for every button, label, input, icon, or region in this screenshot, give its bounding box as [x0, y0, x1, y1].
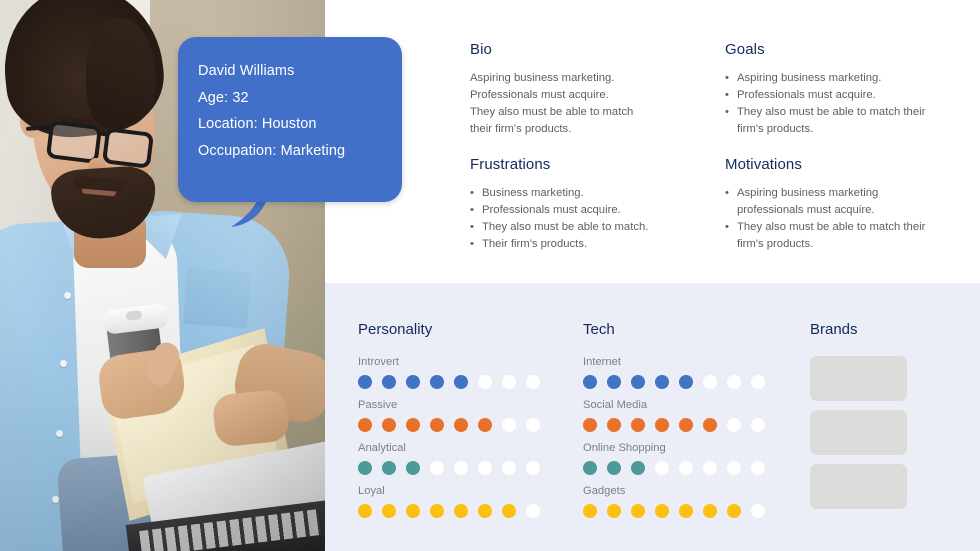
rating-dot-filled[interactable]: [382, 461, 396, 475]
rating-dot-filled[interactable]: [703, 418, 717, 432]
trait-rating[interactable]: [358, 504, 563, 518]
trait-label: Loyal: [358, 485, 563, 497]
rating-dot-filled[interactable]: [679, 375, 693, 389]
trait-rating[interactable]: [583, 375, 798, 389]
rating-dot-empty[interactable]: [655, 461, 669, 475]
trait-label: Analytical: [358, 442, 563, 454]
rating-dot-filled[interactable]: [382, 418, 396, 432]
brand-logo-placeholders: [810, 356, 970, 509]
persona-identity-bubble: David Williams Age: 32 Location: Houston…: [178, 37, 402, 202]
personality-title: Personality: [358, 283, 563, 338]
rating-dot-filled[interactable]: [679, 418, 693, 432]
rating-dot-filled[interactable]: [454, 375, 468, 389]
trait-label: Online Shopping: [583, 442, 798, 454]
frustrations-title: Frustrations: [470, 156, 675, 173]
motivations-list: Aspiring business marketing professional…: [725, 185, 930, 253]
trait-row: Internet: [583, 356, 798, 389]
goals-list: Aspiring business marketing. Professiona…: [725, 70, 930, 138]
rating-dot-empty[interactable]: [727, 461, 741, 475]
bio-title: Bio: [470, 41, 670, 58]
rating-dot-empty[interactable]: [751, 461, 765, 475]
rating-dot-filled[interactable]: [631, 418, 645, 432]
personality-traits: IntrovertPassiveAnalyticalLoyal: [358, 356, 563, 518]
attributes-panel: Personality IntrovertPassiveAnalyticalLo…: [325, 283, 980, 551]
frustrations-section: Frustrations Business marketing. Profess…: [470, 156, 675, 253]
brands-section: Brands: [810, 283, 970, 518]
trait-label: Passive: [358, 399, 563, 411]
trait-row: Analytical: [358, 442, 563, 475]
bio-line: Aspiring business marketing.: [470, 70, 670, 87]
bio-line: their firm's products.: [470, 121, 670, 138]
rating-dot-empty[interactable]: [703, 461, 717, 475]
list-item: Their firm's products.: [470, 236, 675, 253]
bio-line: Professionals must acquire.: [470, 87, 670, 104]
rating-dot-filled[interactable]: [607, 461, 621, 475]
list-item: They also must be able to match.: [470, 219, 675, 236]
rating-dot-filled[interactable]: [430, 504, 444, 518]
trait-row: Passive: [358, 399, 563, 432]
rating-dot-filled[interactable]: [583, 504, 597, 518]
trait-rating[interactable]: [358, 418, 563, 432]
rating-dot-empty[interactable]: [478, 461, 492, 475]
rating-dot-filled[interactable]: [679, 504, 693, 518]
list-item: Professionals must acquire.: [725, 87, 930, 104]
rating-dot-filled[interactable]: [382, 375, 396, 389]
rating-dot-empty[interactable]: [502, 461, 516, 475]
list-item: They also must be able to match their fi…: [725, 219, 930, 253]
rating-dot-filled[interactable]: [583, 375, 597, 389]
brand-logo-placeholder[interactable]: [810, 464, 907, 509]
rating-dot-filled[interactable]: [631, 504, 645, 518]
persona-name: David Williams: [198, 58, 402, 85]
motivations-title: Motivations: [725, 156, 930, 173]
rating-dot-empty[interactable]: [679, 461, 693, 475]
persona-location: Location: Houston: [198, 111, 402, 138]
trait-rating[interactable]: [583, 504, 798, 518]
rating-dot-filled[interactable]: [430, 375, 444, 389]
tech-section: Tech InternetSocial MediaOnline Shopping…: [583, 283, 798, 528]
rating-dot-empty[interactable]: [430, 461, 444, 475]
rating-dot-filled[interactable]: [607, 375, 621, 389]
trait-rating[interactable]: [358, 375, 563, 389]
rating-dot-empty[interactable]: [703, 375, 717, 389]
list-item: Aspiring business marketing professional…: [725, 185, 930, 219]
trait-row: Social Media: [583, 399, 798, 432]
rating-dot-empty[interactable]: [502, 375, 516, 389]
tech-traits: InternetSocial MediaOnline ShoppingGadge…: [583, 356, 798, 518]
rating-dot-filled[interactable]: [454, 504, 468, 518]
personality-section: Personality IntrovertPassiveAnalyticalLo…: [358, 283, 563, 528]
rating-dot-filled[interactable]: [406, 504, 420, 518]
list-item: They also must be able to match their fi…: [725, 104, 930, 138]
rating-dot-filled[interactable]: [583, 418, 597, 432]
rating-dot-empty[interactable]: [502, 418, 516, 432]
rating-dot-filled[interactable]: [406, 461, 420, 475]
trait-rating[interactable]: [583, 418, 798, 432]
rating-dot-filled[interactable]: [727, 504, 741, 518]
rating-dot-filled[interactable]: [655, 418, 669, 432]
rating-dot-filled[interactable]: [631, 375, 645, 389]
list-item: Business marketing.: [470, 185, 675, 202]
rating-dot-filled[interactable]: [655, 375, 669, 389]
list-item: Professionals must acquire.: [470, 202, 675, 219]
rating-dot-filled[interactable]: [607, 504, 621, 518]
rating-dot-filled[interactable]: [358, 375, 372, 389]
trait-row: Loyal: [358, 485, 563, 518]
persona-occupation: Occupation: Marketing: [198, 138, 402, 165]
bio-section: Bio Aspiring business marketing. Profess…: [470, 41, 670, 138]
rating-dot-filled[interactable]: [631, 461, 645, 475]
rating-dot-filled[interactable]: [655, 504, 669, 518]
rating-dot-empty[interactable]: [478, 375, 492, 389]
rating-dot-empty[interactable]: [526, 418, 540, 432]
trait-label: Social Media: [583, 399, 798, 411]
rating-dot-empty[interactable]: [526, 375, 540, 389]
rating-dot-filled[interactable]: [430, 418, 444, 432]
trait-row: Online Shopping: [583, 442, 798, 475]
list-item: Aspiring business marketing.: [725, 70, 930, 87]
rating-dot-filled[interactable]: [358, 461, 372, 475]
rating-dot-filled[interactable]: [478, 418, 492, 432]
rating-dot-empty[interactable]: [751, 504, 765, 518]
goals-section: Goals Aspiring business marketing. Profe…: [725, 41, 930, 138]
rating-dot-filled[interactable]: [406, 375, 420, 389]
rating-dot-filled[interactable]: [502, 504, 516, 518]
bio-paragraph: Aspiring business marketing. Professiona…: [470, 70, 670, 138]
rating-dot-filled[interactable]: [358, 418, 372, 432]
rating-dot-filled[interactable]: [454, 418, 468, 432]
tech-title: Tech: [583, 283, 798, 338]
trait-rating[interactable]: [358, 461, 563, 475]
rating-dot-filled[interactable]: [478, 504, 492, 518]
motivations-section: Motivations Aspiring business marketing …: [725, 156, 930, 253]
trait-label: Internet: [583, 356, 798, 368]
rating-dot-empty[interactable]: [751, 375, 765, 389]
persona-age: Age: 32: [198, 85, 402, 112]
goals-title: Goals: [725, 41, 930, 58]
persona-details: Bio Aspiring business marketing. Profess…: [325, 0, 980, 283]
rating-dot-filled[interactable]: [607, 418, 621, 432]
brands-title: Brands: [810, 283, 970, 338]
rating-dot-filled[interactable]: [406, 418, 420, 432]
rating-dot-empty[interactable]: [526, 504, 540, 518]
rating-dot-filled[interactable]: [382, 504, 396, 518]
frustrations-list: Business marketing. Professionals must a…: [470, 185, 675, 253]
trait-row: Introvert: [358, 356, 563, 389]
trait-rating[interactable]: [583, 461, 798, 475]
persona-card: David Williams Age: 32 Location: Houston…: [0, 0, 980, 551]
trait-label: Introvert: [358, 356, 563, 368]
rating-dot-empty[interactable]: [454, 461, 468, 475]
rating-dot-filled[interactable]: [583, 461, 597, 475]
trait-label: Gadgets: [583, 485, 798, 497]
rating-dot-filled[interactable]: [703, 504, 717, 518]
brand-logo-placeholder[interactable]: [810, 410, 907, 455]
brand-logo-placeholder[interactable]: [810, 356, 907, 401]
rating-dot-empty[interactable]: [727, 418, 741, 432]
rating-dot-empty[interactable]: [526, 461, 540, 475]
trait-row: Gadgets: [583, 485, 798, 518]
rating-dot-empty[interactable]: [727, 375, 741, 389]
rating-dot-empty[interactable]: [751, 418, 765, 432]
rating-dot-filled[interactable]: [358, 504, 372, 518]
bio-line: They also must be able to match: [470, 104, 670, 121]
